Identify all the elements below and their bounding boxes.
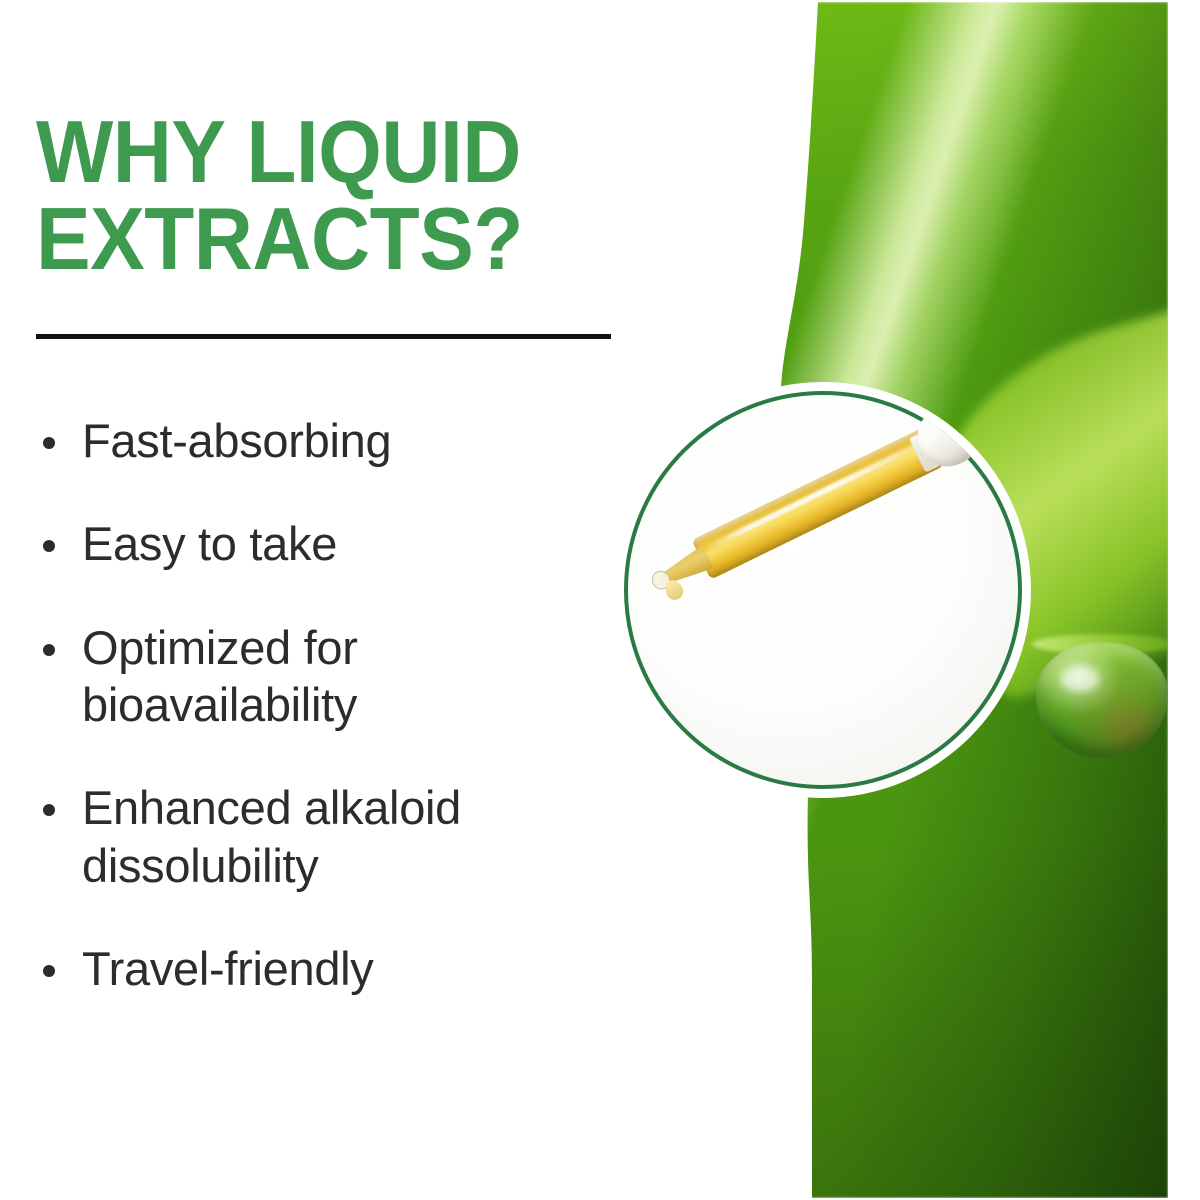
list-item: Travel-friendly: [36, 940, 636, 997]
list-item: Fast-absorbing: [36, 412, 636, 469]
page-title: WHY LIQUID EXTRACTS?: [36, 108, 613, 282]
glass-highlight: [705, 441, 922, 551]
benefits-list: Fast-absorbing Easy to take Optimized fo…: [36, 412, 636, 997]
title-divider: [36, 334, 611, 339]
text-column: WHY LIQUID EXTRACTS? Fast-absorbing Easy…: [0, 0, 700, 1200]
list-item: Optimized for bioavailability: [36, 619, 636, 734]
list-item: Enhanced alkaloid dissolubility: [36, 779, 636, 894]
promo-poster: WHY LIQUID EXTRACTS? Fast-absorbing Easy…: [0, 0, 1200, 1200]
list-item: Easy to take: [36, 515, 636, 572]
inset-clip: [624, 391, 1022, 789]
dropper-inset: [615, 382, 1031, 798]
glass-pipette-icon: [648, 425, 946, 600]
droplet-glint: [1060, 666, 1100, 692]
